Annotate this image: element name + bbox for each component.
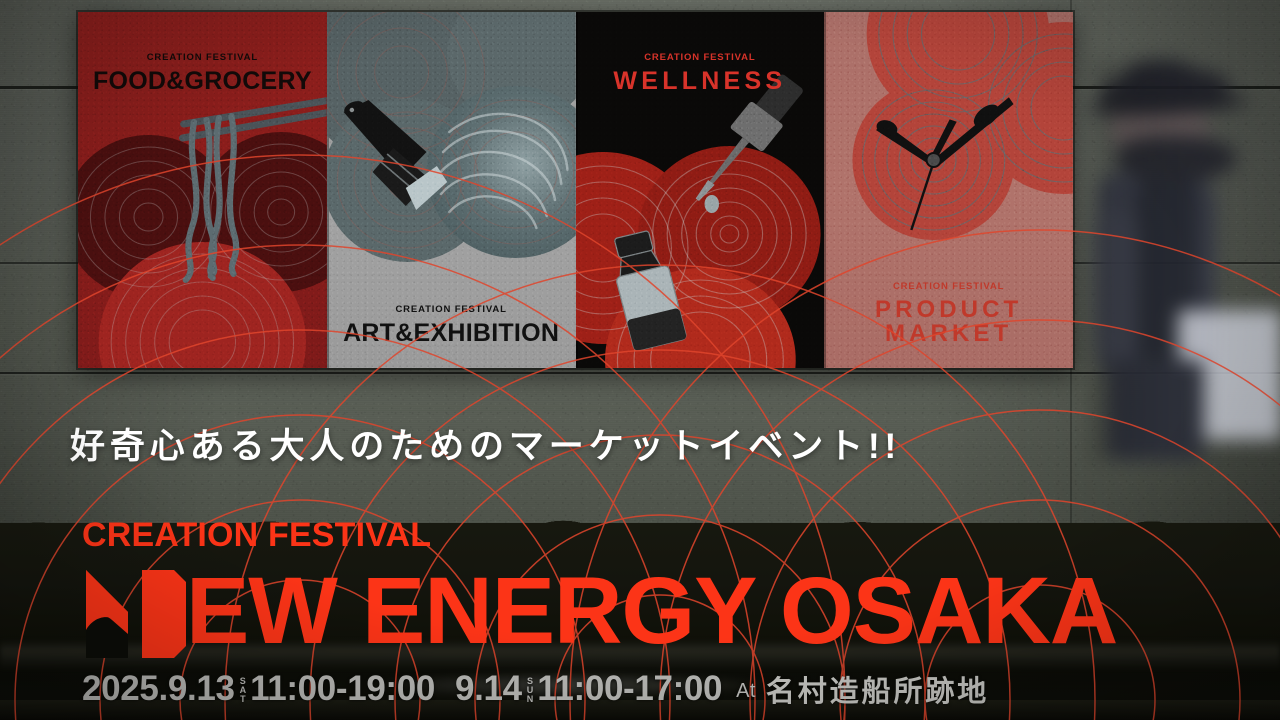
panel-eyebrow: CREATION FESTIVAL xyxy=(327,304,576,315)
day2-date: 9.14 xyxy=(455,669,522,709)
panel-title: PRODUCT MARKET xyxy=(824,298,1073,346)
poster-panel-art-exhibition[interactable]: CREATION FESTIVAL ART&EXHIBITION xyxy=(327,12,576,368)
poster-panel-wellness[interactable]: CREATION FESTIVAL WELLNESS xyxy=(576,12,825,368)
panel-eyebrow: CREATION FESTIVAL xyxy=(576,52,825,63)
schedule-bar: 2025.9.13 SAT 11:00-19:00 9.14 SUN 11:00… xyxy=(82,668,989,710)
at-label: At xyxy=(736,680,756,703)
panel-title: ART&EXHIBITION xyxy=(327,321,576,346)
blurred-pedestrian xyxy=(1092,60,1280,460)
event-title-row: EW ENERGY OSAKA xyxy=(82,568,1117,660)
panel-eyebrow: CREATION FESTIVAL xyxy=(824,281,1073,292)
poster-canvas: CREATION FESTIVAL FOOD&GROCERY xyxy=(0,0,1280,720)
event-title: EW ENERGY OSAKA xyxy=(186,568,1117,655)
poster-panel-food-grocery[interactable]: CREATION FESTIVAL FOOD&GROCERY xyxy=(78,12,327,368)
day1-day-of-week: SAT xyxy=(240,677,247,704)
new-energy-logo-mark xyxy=(82,568,190,660)
panel-caption-food-grocery: CREATION FESTIVAL FOOD&GROCERY xyxy=(78,52,327,94)
panel-eyebrow: CREATION FESTIVAL xyxy=(78,52,327,63)
day1-time: 11:00-19:00 xyxy=(250,669,435,709)
day2-time: 11:00-17:00 xyxy=(537,669,722,709)
panel-caption-product-market: CREATION FESTIVAL PRODUCT MARKET xyxy=(824,281,1073,346)
festival-label: CREATION FESTIVAL xyxy=(82,518,431,552)
panel-caption-art-exhibition: CREATION FESTIVAL ART&EXHIBITION xyxy=(327,304,576,346)
poster-panel-product-market[interactable]: CREATION FESTIVAL PRODUCT MARKET xyxy=(824,12,1073,368)
day2-day-of-week: SUN xyxy=(527,677,534,704)
pedestrian-shadow xyxy=(1092,60,1280,460)
tagline: 好奇心ある大人のためのマーケットイベント!! xyxy=(70,418,901,469)
venue-name: 名村造船所跡地 xyxy=(766,668,989,710)
billboard[interactable]: CREATION FESTIVAL FOOD&GROCERY xyxy=(78,12,1073,368)
panel-title: WELLNESS xyxy=(576,69,825,94)
panel-title: FOOD&GROCERY xyxy=(78,69,327,94)
day1-date: 2025.9.13 xyxy=(82,669,235,709)
wall-seam-lower xyxy=(0,372,1280,374)
panel-caption-wellness: CREATION FESTIVAL WELLNESS xyxy=(576,52,825,94)
